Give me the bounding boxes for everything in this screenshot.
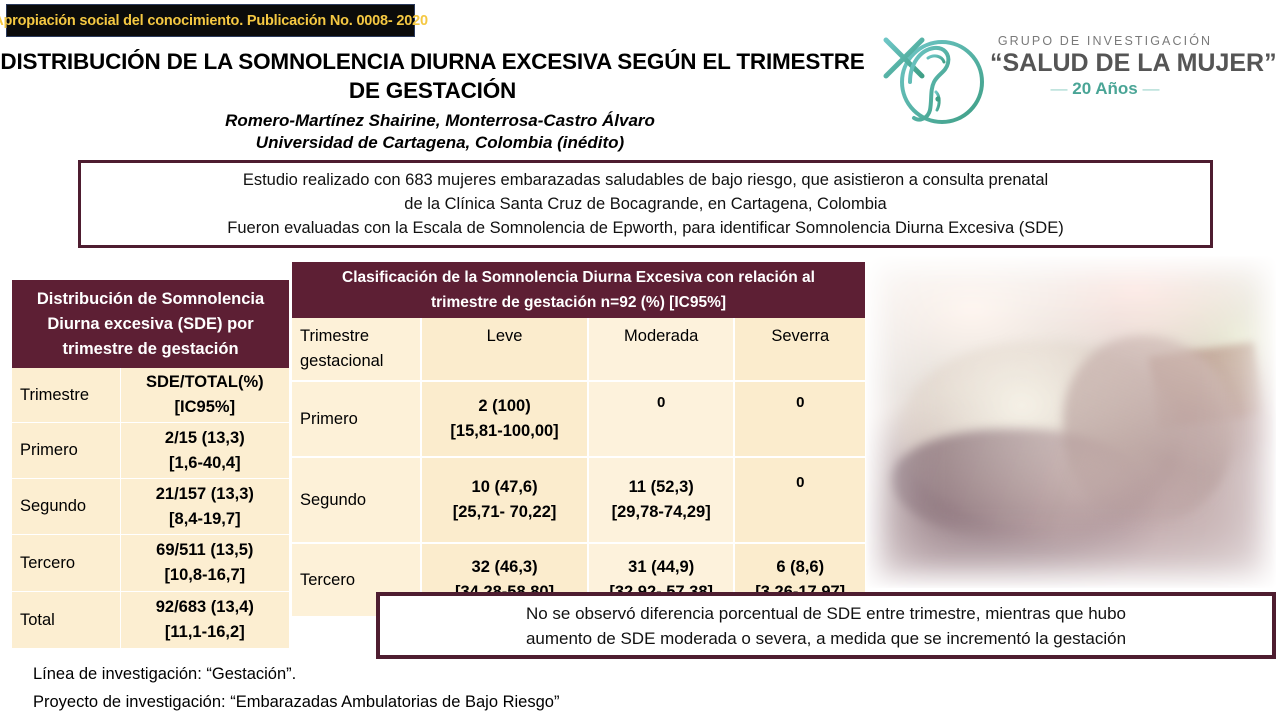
left-col-header-trimestre: Trimestre	[12, 368, 120, 423]
sde-classification-table-body: Trimestre gestacional Leve Moderada Seve…	[292, 318, 865, 616]
authors-names: Romero-Martínez Shairine, Monterrosa-Cas…	[0, 110, 880, 132]
photo-soft-edge-vignette	[866, 256, 1276, 588]
right-row-0-leve-line-2: [15,81-100,00]	[422, 419, 587, 444]
right-row-1-moderada-line-2: [29,78-74,29]	[589, 500, 734, 525]
right-row-2-severra-line-1: 6 (8,6)	[735, 555, 865, 580]
left-row-1-value-line-2: [8,4-19,7]	[121, 507, 289, 532]
left-col-header-value: SDE/TOTAL(%) [IC95%]	[120, 368, 289, 423]
right-col-header-trimestre: Trimestre gestacional	[292, 318, 421, 381]
logo-dash-right: —	[1142, 79, 1159, 98]
logo-group-name: “SALUD DE LA MUJER”	[990, 49, 1220, 78]
right-row-0-moderada-value: 0	[589, 390, 734, 415]
left-row-1-value-line-1: 21/157 (13,3)	[121, 482, 289, 507]
right-col-header-trimestre-line-2: gestacional	[300, 349, 420, 374]
table-row: Total 92/683 (13,4) [11,1-16,2]	[12, 592, 289, 649]
woman-figure-circle-icon	[880, 30, 988, 135]
logo-dash-left: —	[1051, 79, 1068, 98]
logo-text-block: GRUPO DE INVESTIGACIÓN “SALUD DE LA MUJE…	[990, 34, 1220, 99]
left-row-2-value-line-1: 69/511 (13,5)	[121, 538, 289, 563]
sde-classification-table-header: Clasificación de la Somnolencia Diurna E…	[292, 262, 865, 318]
conclusion-box: No se observó diferencia porcentual de S…	[376, 592, 1276, 659]
left-row-0-value-line-2: [1,6-40,4]	[121, 451, 289, 476]
right-col-header-severra: Severra	[734, 318, 865, 381]
left-col-header-value-line-1: SDE/TOTAL(%)	[121, 370, 289, 395]
left-row-0-trimester: Primero	[12, 423, 120, 479]
logo-anniversary: — 20 Años —	[990, 79, 1220, 99]
table-row: Primero 2 (100) [15,81-100,00] 0 0	[292, 381, 865, 457]
footer-block: Línea de investigación: “Gestación”. Pro…	[33, 660, 833, 716]
sde-classification-table: Clasificación de la Somnolencia Diurna E…	[292, 262, 865, 616]
left-row-3-value-line-1: 92/683 (13,4)	[121, 595, 289, 620]
right-row-2-leve-line-1: 32 (46,3)	[422, 555, 587, 580]
right-row-1-leve-line-1: 10 (47,6)	[422, 475, 587, 500]
footer-research-line: Línea de investigación: “Gestación”.	[33, 660, 833, 688]
right-row-0-trimester: Primero	[292, 381, 421, 457]
sde-distribution-table-body: Trimestre SDE/TOTAL(%) [IC95%] Primero 2…	[12, 368, 289, 648]
right-header-line-2: trimestre de gestación n=92 (%) [IC95%]	[431, 290, 726, 315]
table-row: Primero 2/15 (13,3) [1,6-40,4]	[12, 423, 289, 479]
study-description-line-2: de la Clínica Santa Cruz de Bocagrande, …	[404, 192, 886, 216]
left-row-3-value: 92/683 (13,4) [11,1-16,2]	[120, 592, 289, 649]
left-col-header-value-line-2: [IC95%]	[121, 395, 289, 420]
table-row: Tercero 69/511 (13,5) [10,8-16,7]	[12, 535, 289, 592]
left-row-1-trimester: Segundo	[12, 479, 120, 535]
pregnant-belly-hands-photo	[866, 256, 1276, 588]
left-header-line-1: Distribución de Somnolencia	[37, 287, 264, 312]
left-row-3-trimester: Total	[12, 592, 120, 649]
authors-block: Romero-Martínez Shairine, Monterrosa-Cas…	[0, 110, 880, 154]
sde-distribution-table: Distribución de Somnolencia Diurna exces…	[12, 280, 289, 648]
right-col-header-moderada: Moderada	[588, 318, 735, 381]
authors-affiliation: Universidad de Cartagena, Colombia (inéd…	[0, 132, 880, 154]
logo-group-label: GRUPO DE INVESTIGACIÓN	[990, 34, 1220, 48]
right-row-0-severra: 0	[734, 381, 865, 457]
table-row: Segundo 10 (47,6) [25,71- 70,22] 11 (52,…	[292, 457, 865, 543]
sde-distribution-table-header: Distribución de Somnolencia Diurna exces…	[12, 280, 289, 368]
left-row-2-value-line-2: [10,8-16,7]	[121, 563, 289, 588]
right-row-1-leve: 10 (47,6) [25,71- 70,22]	[421, 457, 588, 543]
table-column-header-row: Trimestre SDE/TOTAL(%) [IC95%]	[12, 368, 289, 423]
study-description-line-3: Fueron evaluadas con la Escala de Somnol…	[227, 216, 1063, 240]
conclusion-line-1: No se observó diferencia porcentual de S…	[526, 601, 1126, 626]
table-column-header-row: Trimestre gestacional Leve Moderada Seve…	[292, 318, 865, 381]
right-row-1-leve-line-2: [25,71- 70,22]	[422, 500, 587, 525]
right-row-0-moderada: 0	[588, 381, 735, 457]
right-row-1-trimester: Segundo	[292, 457, 421, 543]
right-row-0-leve-line-1: 2 (100)	[422, 394, 587, 419]
right-row-1-severra: 0	[734, 457, 865, 543]
left-row-0-value-line-1: 2/15 (13,3)	[121, 426, 289, 451]
left-header-line-2: Diurna excesiva (SDE) por	[47, 312, 253, 337]
table-row: Segundo 21/157 (13,3) [8,4-19,7]	[12, 479, 289, 535]
right-col-header-leve: Leve	[421, 318, 588, 381]
right-row-1-moderada-line-1: 11 (52,3)	[589, 475, 734, 500]
left-row-3-value-line-2: [11,1-16,2]	[121, 620, 289, 645]
left-header-line-3: trimestre de gestación	[62, 337, 238, 362]
conclusion-line-2: aumento de SDE moderada o severa, a medi…	[526, 626, 1126, 651]
left-row-2-trimester: Tercero	[12, 535, 120, 592]
right-col-header-trimestre-line-1: Trimestre	[300, 324, 420, 349]
study-description-line-1: Estudio realizado con 683 mujeres embara…	[243, 168, 1048, 192]
publication-banner-text: Apropiación social del conocimiento. Pub…	[0, 13, 428, 29]
right-row-0-severra-value: 0	[735, 390, 865, 415]
page-title: DISTRIBUCIÓN DE LA SOMNOLENCIA DIURNA EX…	[0, 47, 865, 105]
right-header-line-1: Clasificación de la Somnolencia Diurna E…	[342, 265, 815, 290]
left-row-2-value: 69/511 (13,5) [10,8-16,7]	[120, 535, 289, 592]
right-row-1-moderada: 11 (52,3) [29,78-74,29]	[588, 457, 735, 543]
study-description-box: Estudio realizado con 683 mujeres embara…	[78, 160, 1213, 248]
left-row-0-value: 2/15 (13,3) [1,6-40,4]	[120, 423, 289, 479]
right-row-0-leve: 2 (100) [15,81-100,00]	[421, 381, 588, 457]
publication-banner: Apropiación social del conocimiento. Pub…	[6, 4, 415, 37]
footer-project-line: Proyecto de investigación: “Embarazadas …	[33, 688, 833, 716]
logo-years-text: 20 Años	[1072, 79, 1138, 98]
research-group-logo: GRUPO DE INVESTIGACIÓN “SALUD DE LA MUJE…	[880, 28, 1210, 140]
right-row-1-severra-value: 0	[735, 470, 865, 495]
right-row-2-moderada-line-1: 31 (44,9)	[589, 555, 734, 580]
left-row-1-value: 21/157 (13,3) [8,4-19,7]	[120, 479, 289, 535]
